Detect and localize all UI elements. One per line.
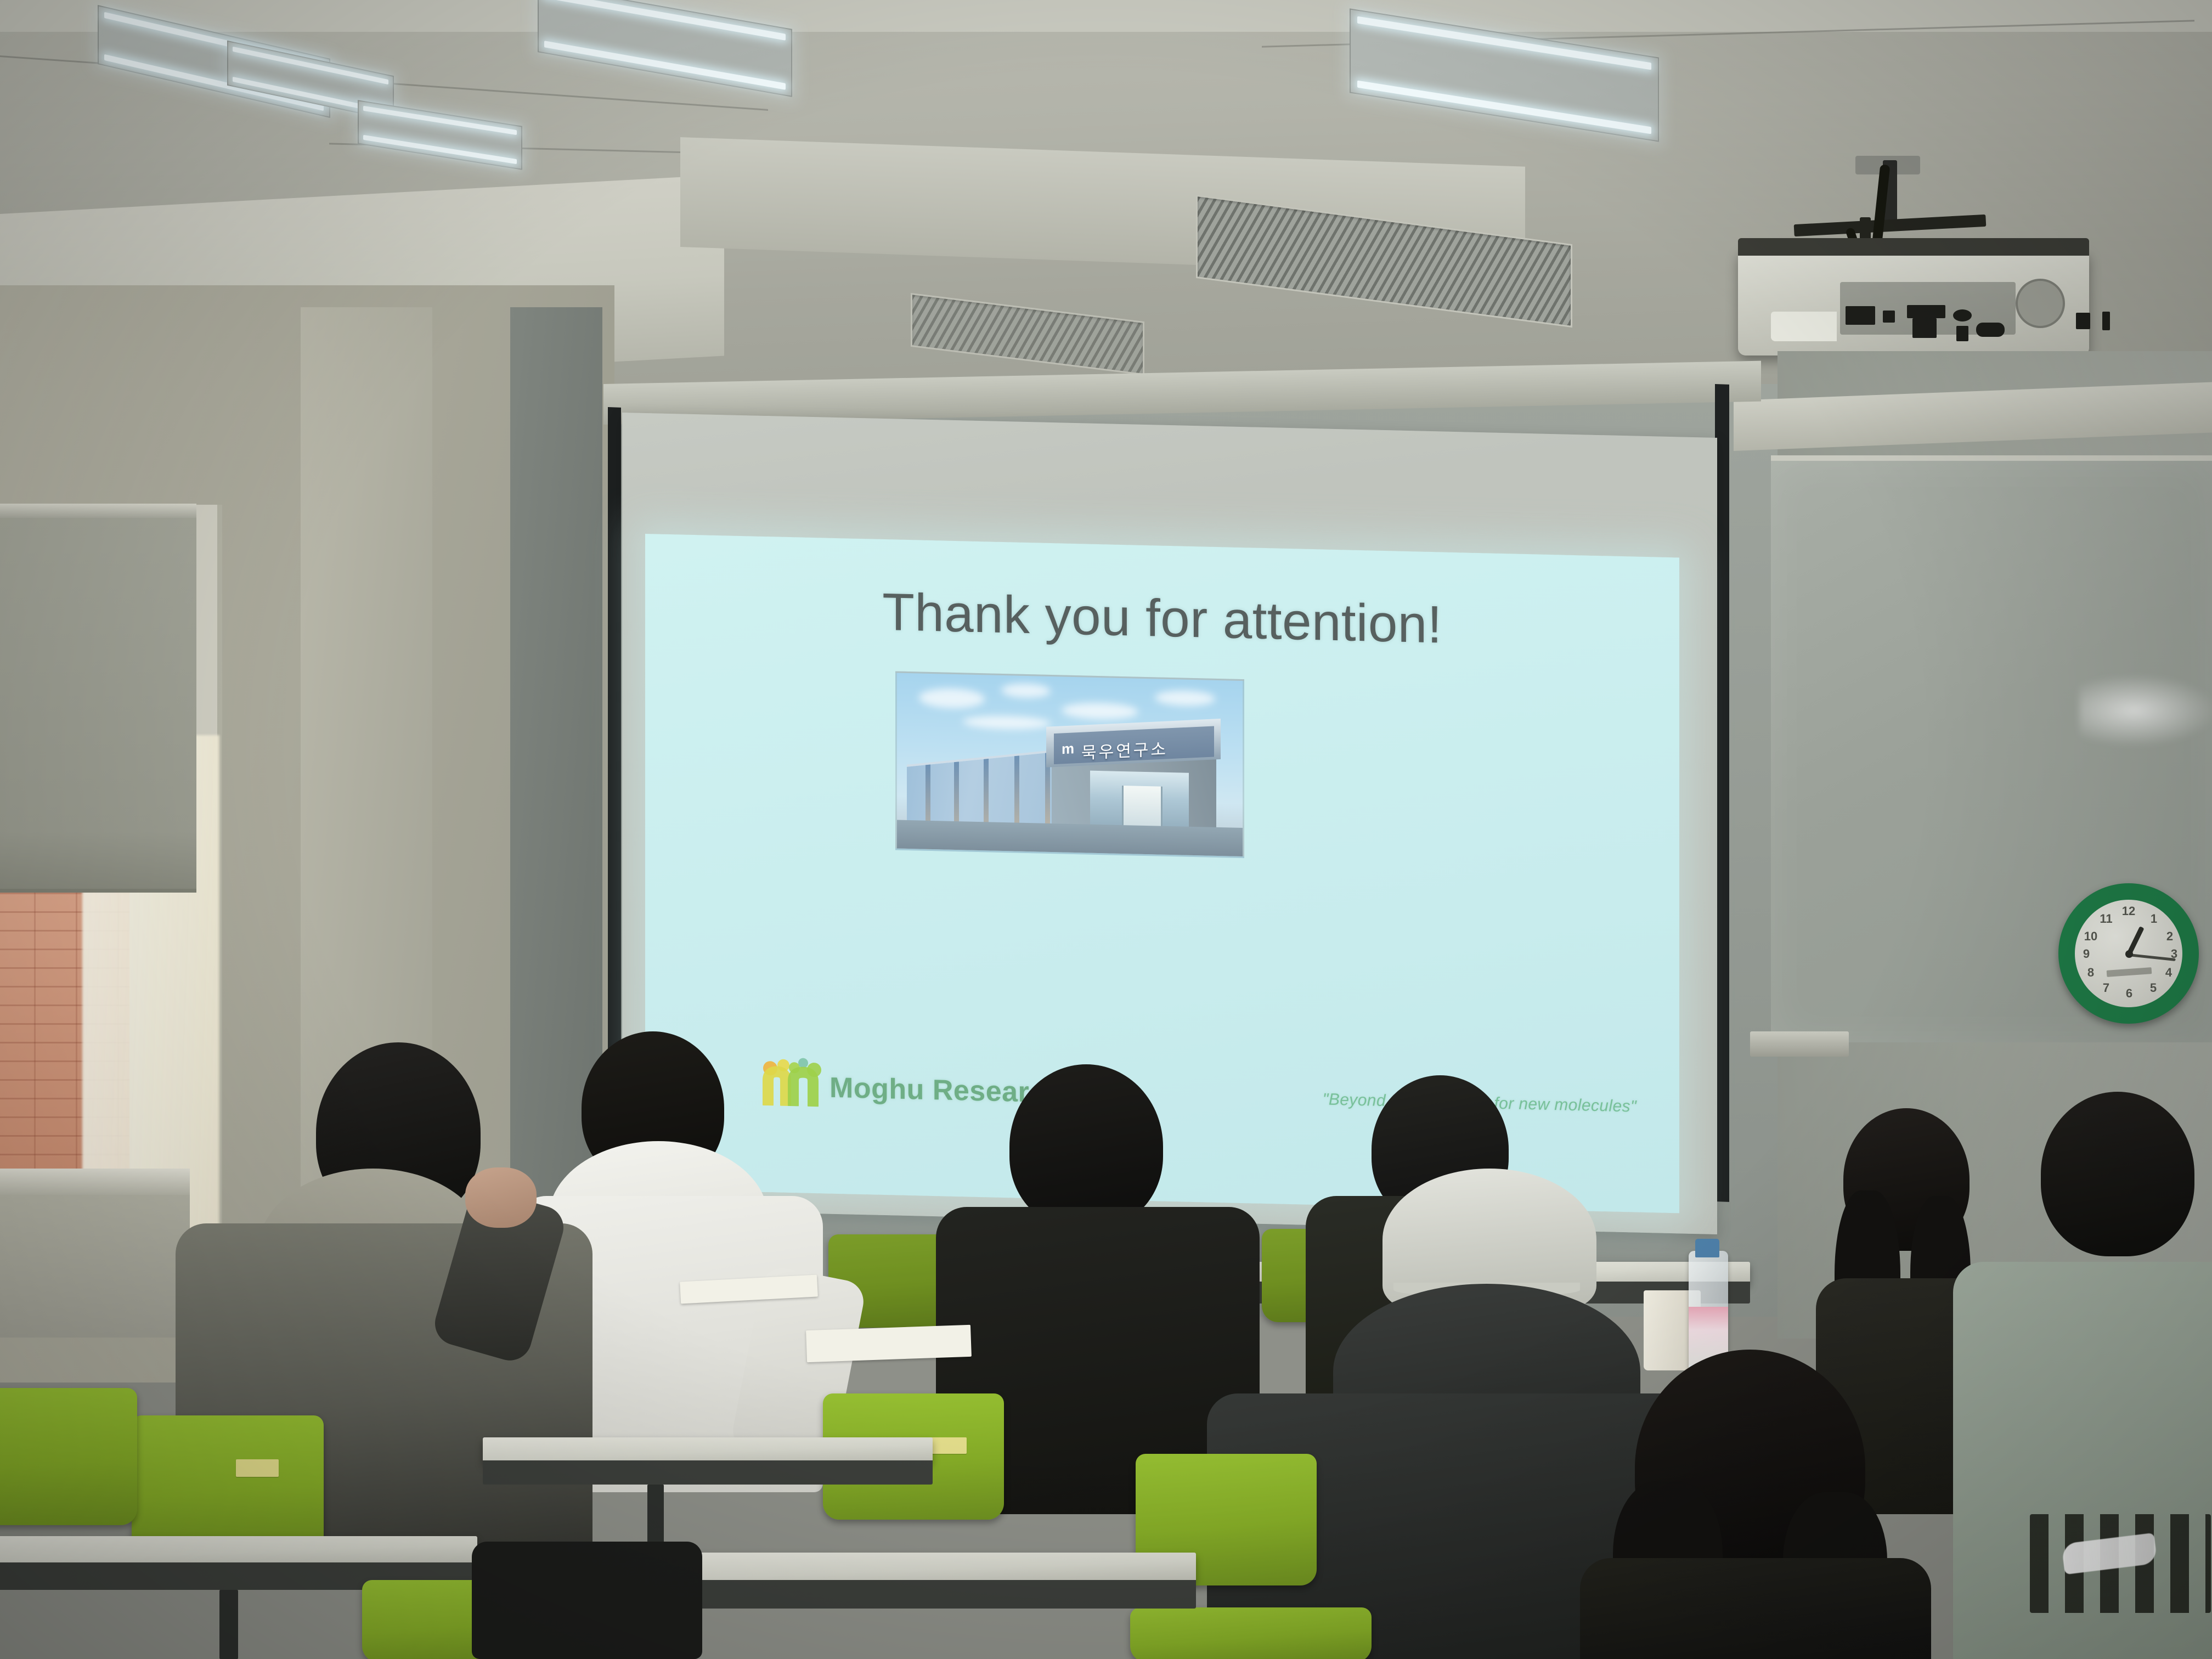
- lecture-desk: [483, 1437, 933, 1463]
- lecture-chair[interactable]: [132, 1415, 324, 1553]
- clock-numeral: 2: [2163, 929, 2177, 944]
- window-blind-rod[interactable]: [0, 504, 196, 518]
- projector-top-shell: [1738, 238, 2089, 256]
- lecture-desk: [669, 1553, 1196, 1582]
- projector-port-panel: [1840, 282, 2016, 335]
- chair-tag: [236, 1459, 279, 1477]
- window-sill: [0, 1169, 190, 1195]
- lecture-chair[interactable]: [0, 1388, 137, 1525]
- clock-numeral: 8: [2084, 966, 2098, 980]
- paper-stack: [806, 1325, 972, 1362]
- head: [1009, 1064, 1163, 1229]
- slide-title: Thank you for attention!: [645, 577, 1679, 661]
- lecture-desk: [0, 1536, 477, 1565]
- head: [2041, 1092, 2194, 1256]
- clock-face: 12 1 2 3 4 5 6 7 8 9 10 11: [2075, 900, 2182, 1007]
- clock-numeral: 4: [2162, 966, 2176, 980]
- clock-numeral: 10: [2084, 929, 2098, 944]
- clock-numeral: 9: [2079, 947, 2093, 961]
- wall-clock: 12 1 2 3 4 5 6 7 8 9 10 11: [2058, 883, 2199, 1024]
- clock-numeral: 6: [2122, 986, 2136, 1001]
- building-sign-korean: 묵우연구소: [1081, 735, 1168, 763]
- window-roller-blind[interactable]: [0, 505, 196, 893]
- chair-tag: [927, 1437, 967, 1454]
- projector: [1738, 250, 2089, 356]
- lecture-chair[interactable]: [1130, 1607, 1372, 1659]
- hand: [465, 1167, 537, 1228]
- projection-screen: Thank you for attention! m 묵우: [622, 413, 1717, 1234]
- moghu-people-m-logo: [761, 1055, 822, 1107]
- whiteboard-marker-tray: [1750, 1031, 1849, 1057]
- clock-brand-mark: [2107, 967, 2152, 977]
- whiteboard-glare: [2079, 675, 2212, 746]
- classroom-photo: 12 1 2 3 4 5 6 7 8 9 10 11 Thank you: [0, 0, 2212, 1659]
- clock-numeral: 1: [2147, 912, 2161, 926]
- slide-building-photo: m 묵우연구소: [895, 671, 1244, 858]
- projector-lens-ring: [2016, 279, 2065, 328]
- presentation-slide: Thank you for attention! m 묵우: [645, 534, 1679, 1213]
- torso: [1580, 1558, 1931, 1659]
- clock-numeral: 5: [2146, 981, 2160, 995]
- projector-lens: [1771, 312, 1837, 341]
- desk-edge: [483, 1460, 933, 1485]
- clock-numeral: 12: [2121, 904, 2136, 918]
- desk-edge: [669, 1580, 1196, 1609]
- ceiling-band: [0, 0, 2212, 32]
- bottle-cap: [1695, 1239, 1719, 1257]
- clock-numeral: 7: [2099, 981, 2113, 995]
- window-lower-panel: [0, 1195, 190, 1338]
- clock-numeral: 11: [2099, 912, 2113, 926]
- backpack: [472, 1542, 702, 1659]
- desk-leg: [219, 1590, 238, 1659]
- building-sign-logo-mark: m: [1062, 740, 1074, 758]
- clock-center-pin: [2125, 950, 2133, 958]
